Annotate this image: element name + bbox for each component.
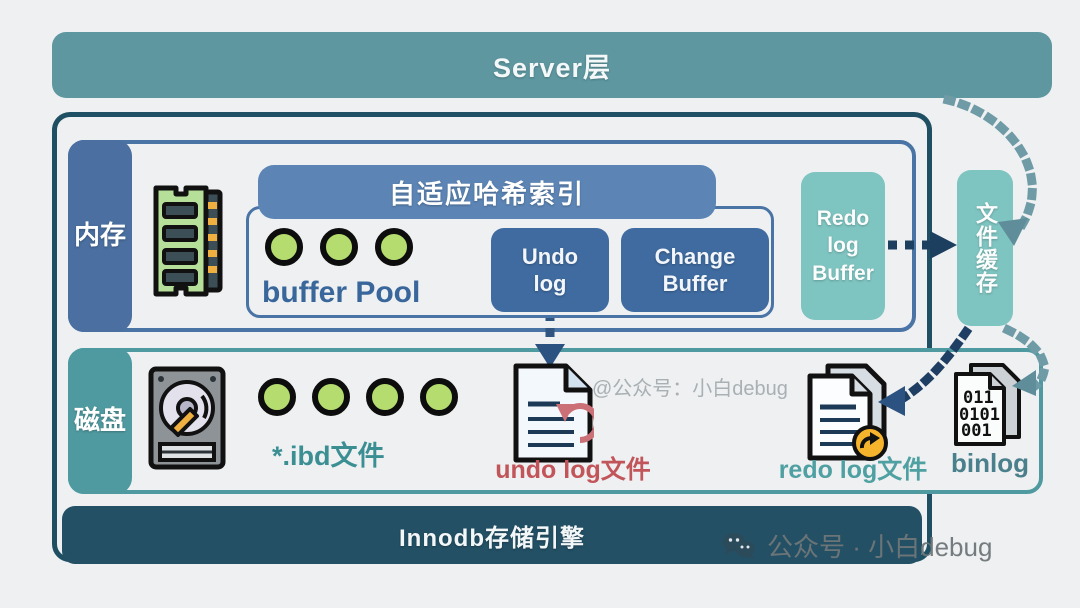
undo-log-file-label: undo log文件 <box>473 450 673 486</box>
binlog-label: binlog <box>930 448 1050 479</box>
adaptive-hash-index-box: 自适应哈希索引 <box>258 165 716 219</box>
ibd-page-dot <box>366 378 404 416</box>
binary-file-icon: 011 0101 001 <box>953 362 1025 450</box>
server-layer-label: Server层 <box>493 46 611 85</box>
server-layer-bar: Server层 <box>52 32 1052 98</box>
hard-disk-icon <box>148 366 226 470</box>
buffer-page-dot <box>375 228 413 266</box>
ibd-page-dot <box>312 378 350 416</box>
diagram-canvas: Server层 内存 自适应哈希索引 buffer Pool Undolog C… <box>0 0 1080 608</box>
ibd-files-label: *.ibd文件 <box>272 434 385 473</box>
bottom-watermark: 公众号 · 小白debug <box>722 527 992 564</box>
undo-log-box: Undolog <box>491 228 609 312</box>
redo-log-buffer-box: RedologBuffer <box>801 172 885 320</box>
ibd-page-dot <box>420 378 458 416</box>
ibd-page-dot <box>258 378 296 416</box>
memory-tab: 内存 <box>68 140 132 332</box>
adaptive-hash-index-label: 自适应哈希索引 <box>389 174 585 211</box>
innodb-engine-label: Innodb存储引擎 <box>399 518 585 553</box>
redo-log-buffer-label: RedologBuffer <box>812 205 874 287</box>
disk-tab: 磁盘 <box>68 348 132 494</box>
disk-tab-label: 磁盘 <box>74 405 126 437</box>
change-buffer-box: ChangeBuffer <box>621 228 769 312</box>
svg-text:001: 001 <box>961 421 992 441</box>
ram-stick-icon <box>150 182 226 300</box>
inline-watermark: @公众号：小白debug <box>592 372 788 401</box>
document-undo-icon <box>512 362 594 464</box>
change-buffer-label: ChangeBuffer <box>655 243 736 298</box>
bottom-watermark-label: 公众号 · 小白debug <box>767 527 992 564</box>
ibd-pages <box>258 378 458 416</box>
document-redo-icon <box>806 362 894 464</box>
buffer-page-dot <box>265 228 303 266</box>
memory-tab-label: 内存 <box>74 220 126 252</box>
file-cache-box: 文件缓存 <box>957 170 1013 326</box>
file-cache-label: 文件缓存 <box>972 202 998 294</box>
wechat-icon <box>722 532 756 560</box>
buffer-pool-label: buffer Pool <box>262 276 512 310</box>
buffer-page-dot <box>320 228 358 266</box>
undo-log-label: Undolog <box>522 243 578 298</box>
buffer-pool-pages <box>265 228 413 266</box>
